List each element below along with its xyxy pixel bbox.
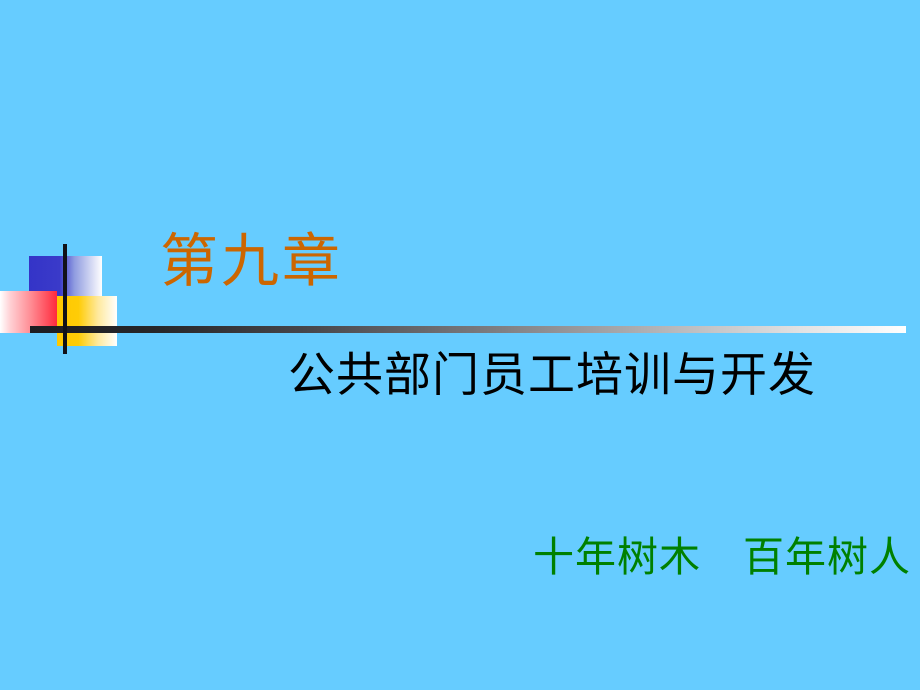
slide-subtitle: 公共部门员工培训与开发 — [288, 352, 816, 399]
presentation-slide: 第九章 公共部门员工培训与开发 十年树木 百年树人 — [0, 0, 920, 690]
vertical-rule — [63, 244, 67, 354]
chapter-title: 第九章 — [160, 232, 343, 290]
slide-footer-motto: 十年树木 百年树人 — [533, 537, 911, 578]
horizontal-rule — [30, 326, 906, 333]
